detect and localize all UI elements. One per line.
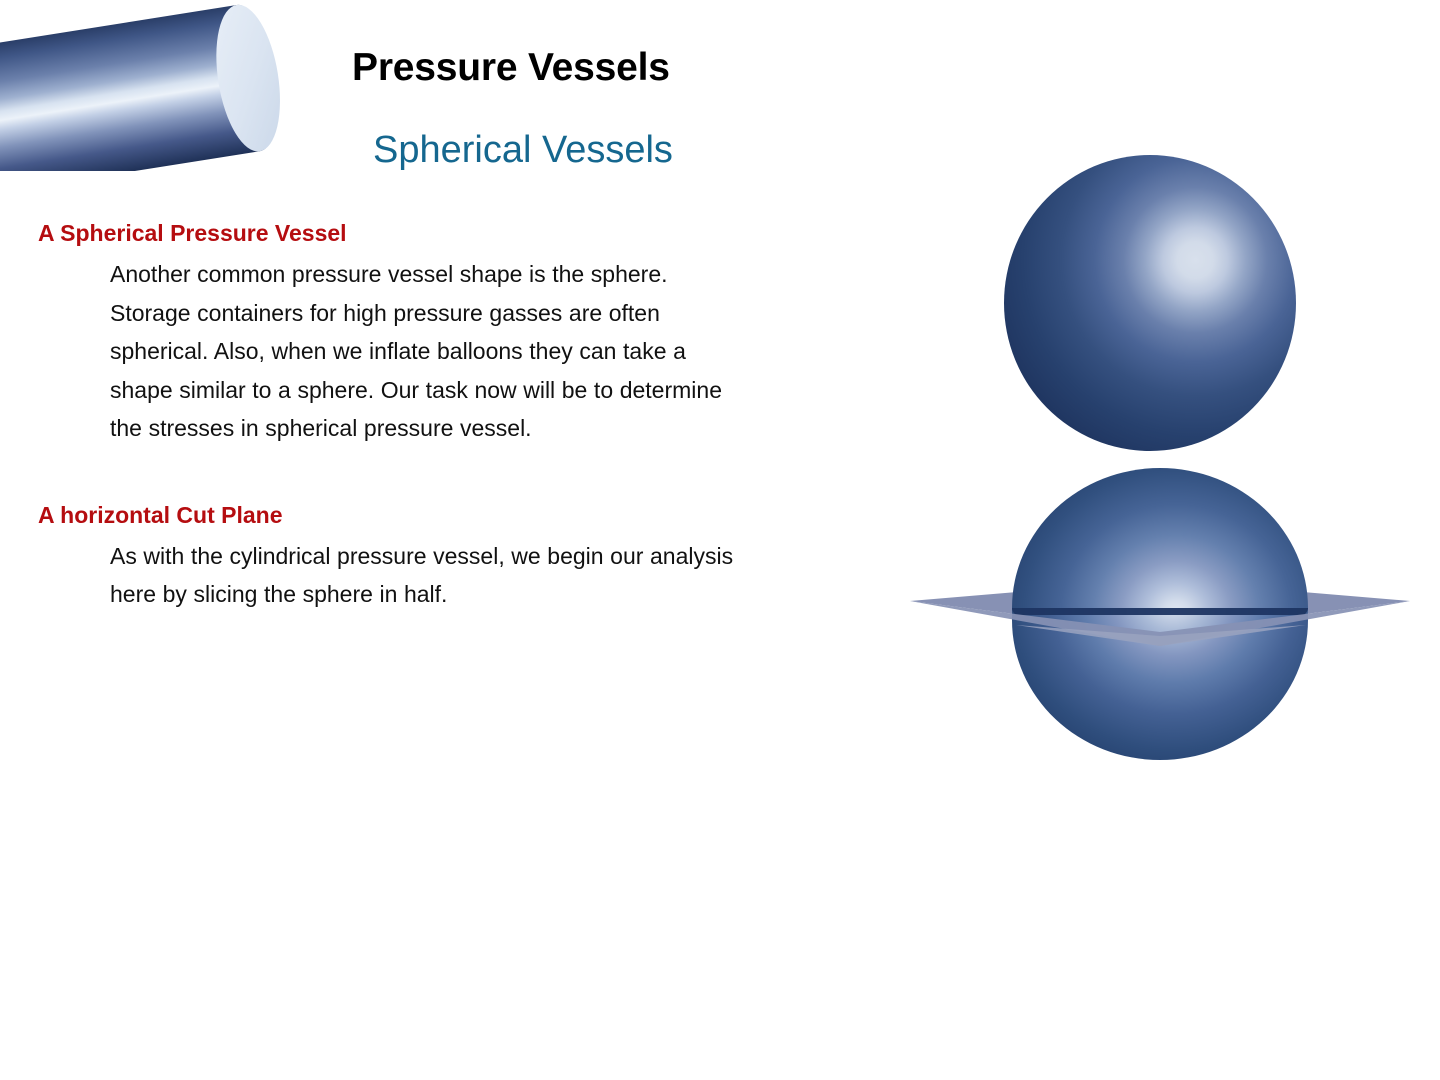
page-subtitle: Spherical Vessels: [373, 127, 673, 173]
sphere-with-cut-plane-figure: [896, 468, 1436, 760]
section-body-text: Another common pressure vessel shape is …: [38, 255, 740, 448]
section-heading: A horizontal Cut Plane: [38, 500, 758, 531]
content-column: A Spherical Pressure Vessel Another comm…: [38, 218, 758, 644]
section-spherical-pressure-vessel: A Spherical Pressure Vessel Another comm…: [38, 218, 758, 448]
section-body-text: As with the cylindrical pressure vessel,…: [38, 537, 740, 614]
section-horizontal-cut-plane: A horizontal Cut Plane As with the cylin…: [38, 500, 758, 614]
section-heading: A Spherical Pressure Vessel: [38, 218, 758, 249]
sphere-shape: [1004, 155, 1296, 451]
spherical-pressure-vessel-figure: [1000, 148, 1305, 460]
slide-canvas: Pressure Vessels Spherical Vessels A Sph…: [0, 0, 1440, 1080]
cylinder-logo-icon: [0, 0, 330, 171]
page-title: Pressure Vessels: [352, 44, 670, 92]
